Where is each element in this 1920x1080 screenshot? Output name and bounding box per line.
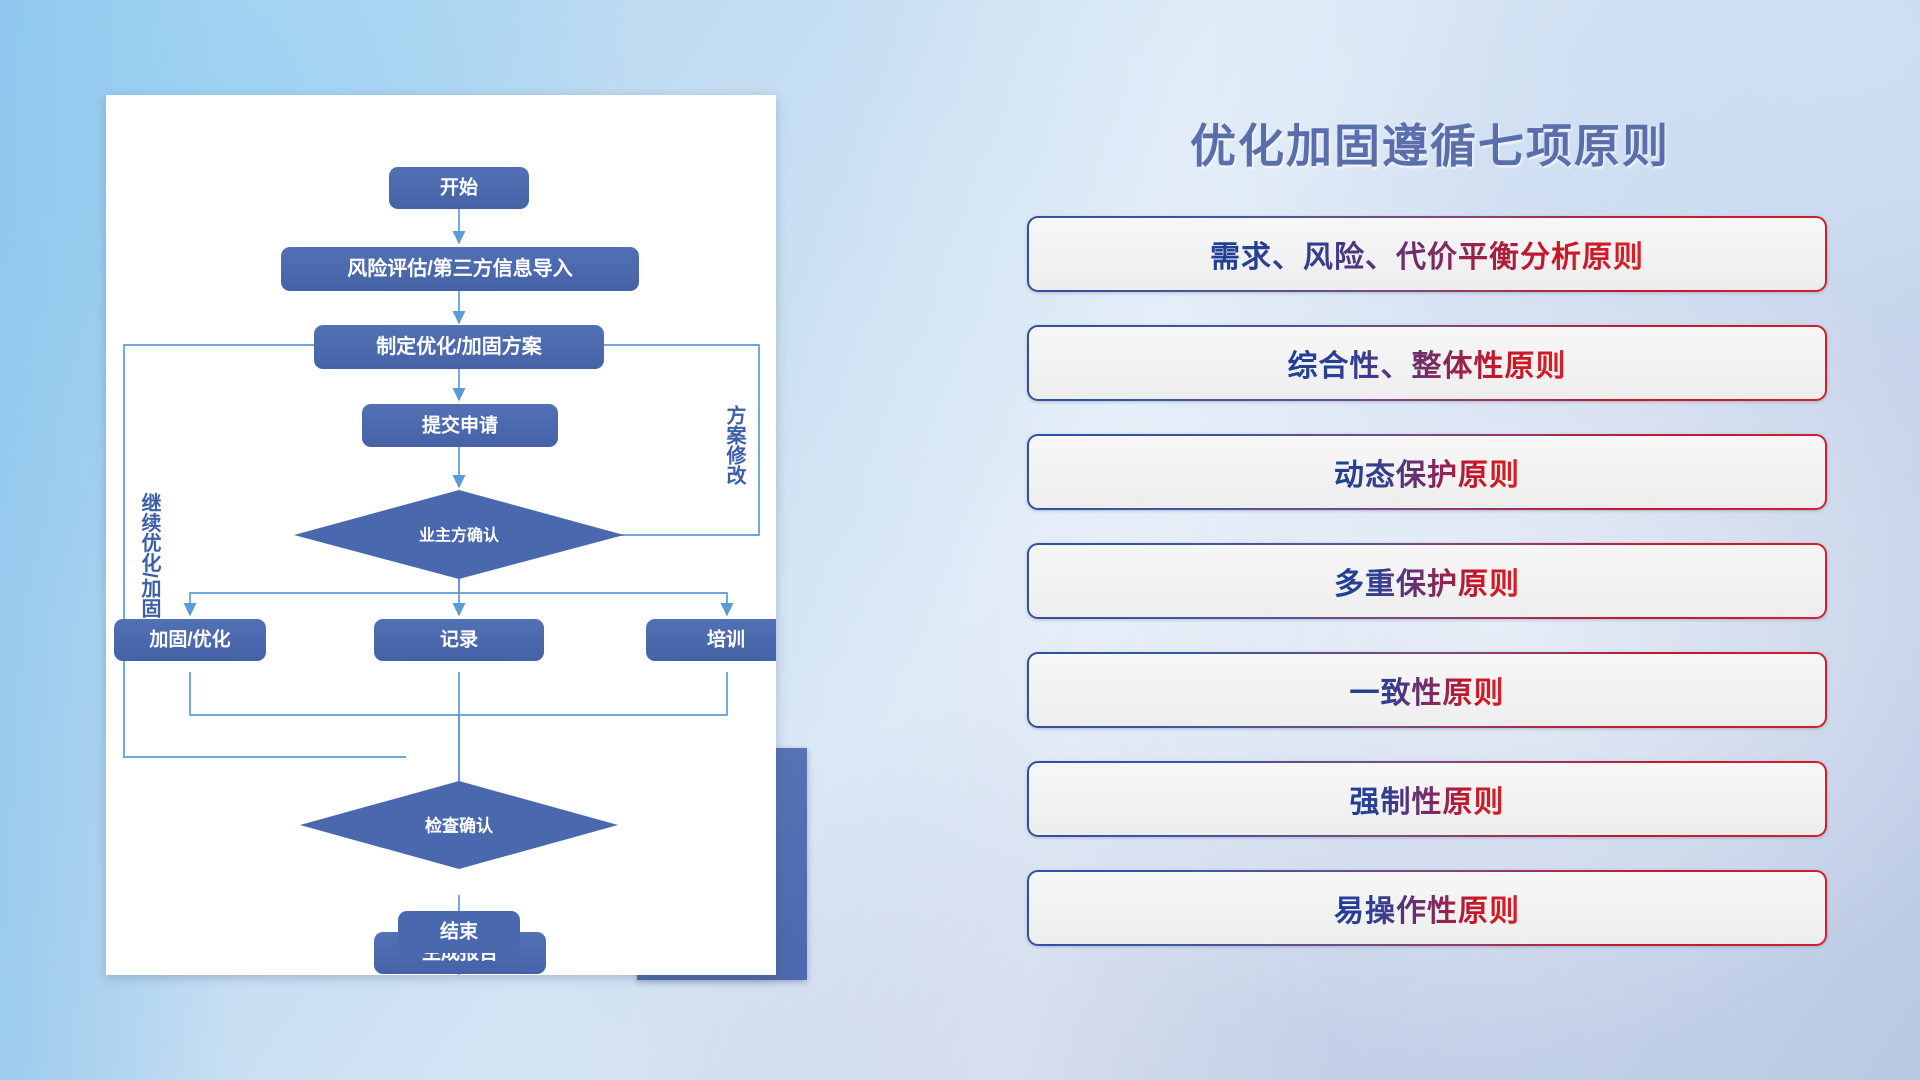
principle-label: 多重保护原则: [1334, 559, 1520, 603]
principle-inner: 综合性、整体性原则: [1029, 327, 1825, 399]
principle-item[interactable]: 综合性、整体性原则: [1027, 325, 1827, 401]
principle-item[interactable]: 强制性原则: [1027, 761, 1827, 837]
principle-inner: 一致性原则: [1029, 654, 1825, 726]
principle-label: 动态保护原则: [1334, 450, 1520, 494]
flow-node-start[interactable]: 开始: [389, 167, 529, 209]
principle-label: 一致性原则: [1350, 668, 1505, 712]
principle-inner: 需求、风险、代价平衡分析原则: [1029, 218, 1825, 290]
flow-node-reinforce-label: 加固/优化: [148, 628, 230, 651]
flow-node-submit[interactable]: 提交申请: [362, 404, 558, 447]
principle-label: 易操作性原则: [1334, 886, 1520, 930]
panel-title: 优化加固遵循七项原则: [1015, 110, 1845, 176]
flow-node-verify-label: 检查确认: [425, 816, 494, 836]
flow-nodes: 开始 风险评估/第三方信息导入 制定优化/加固方案 提交申请 业主方确认 加固/…: [114, 167, 776, 974]
flow-node-reinforce[interactable]: 加固/优化: [114, 619, 266, 661]
principles-panel: 优化加固遵循七项原则 需求、风险、代价平衡分析原则 综合性、整体性原则 动态保护…: [1015, 100, 1845, 1000]
flowchart-svg: 开始 风险评估/第三方信息导入 制定优化/加固方案 提交申请 业主方确认 加固/…: [106, 95, 776, 975]
flow-node-risk-label: 风险评估/第三方信息导入: [347, 256, 573, 280]
flow-node-training[interactable]: 培训: [646, 619, 776, 661]
principle-item[interactable]: 需求、风险、代价平衡分析原则: [1027, 216, 1827, 292]
flow-node-training-label: 培训: [707, 628, 745, 651]
principles-list: 需求、风险、代价平衡分析原则 综合性、整体性原则 动态保护原则 多重保护原则 一: [1027, 216, 1827, 979]
principle-item[interactable]: 易操作性原则: [1027, 870, 1827, 946]
principle-label: 强制性原则: [1350, 777, 1505, 821]
principle-inner: 多重保护原则: [1029, 545, 1825, 617]
flow-node-end[interactable]: 结束: [398, 911, 520, 953]
flow-node-record-label: 记录: [440, 629, 478, 651]
principle-inner: 强制性原则: [1029, 763, 1825, 835]
flow-edge-label-left: 继续优化/加固: [138, 491, 162, 618]
flowchart-end-node-layer: 结束: [106, 975, 776, 1035]
principle-item[interactable]: 动态保护原则: [1027, 434, 1827, 510]
flow-node-record[interactable]: 记录: [374, 619, 544, 661]
flow-edge-label-right: 方案修改: [723, 404, 747, 486]
flow-node-ownercheck[interactable]: 业主方确认: [294, 490, 624, 579]
principle-label: 需求、风险、代价平衡分析原则: [1210, 232, 1644, 276]
flow-node-ownercheck-label: 业主方确认: [419, 526, 500, 545]
principle-label: 综合性、整体性原则: [1288, 341, 1567, 385]
principle-item[interactable]: 一致性原则: [1027, 652, 1827, 728]
principle-item[interactable]: 多重保护原则: [1027, 543, 1827, 619]
flow-node-start-label: 开始: [440, 176, 478, 199]
flowchart-card: 开始 风险评估/第三方信息导入 制定优化/加固方案 提交申请 业主方确认 加固/…: [106, 95, 776, 975]
principle-inner: 动态保护原则: [1029, 436, 1825, 508]
flow-node-plan[interactable]: 制定优化/加固方案: [314, 325, 604, 369]
flow-node-plan-label: 制定优化/加固方案: [376, 334, 543, 358]
flow-node-risk[interactable]: 风险评估/第三方信息导入: [281, 247, 639, 291]
flow-node-verify[interactable]: 检查确认: [300, 781, 618, 869]
flow-node-submit-label: 提交申请: [422, 414, 498, 437]
flow-node-end-label: 结束: [440, 920, 479, 943]
principle-inner: 易操作性原则: [1029, 872, 1825, 944]
